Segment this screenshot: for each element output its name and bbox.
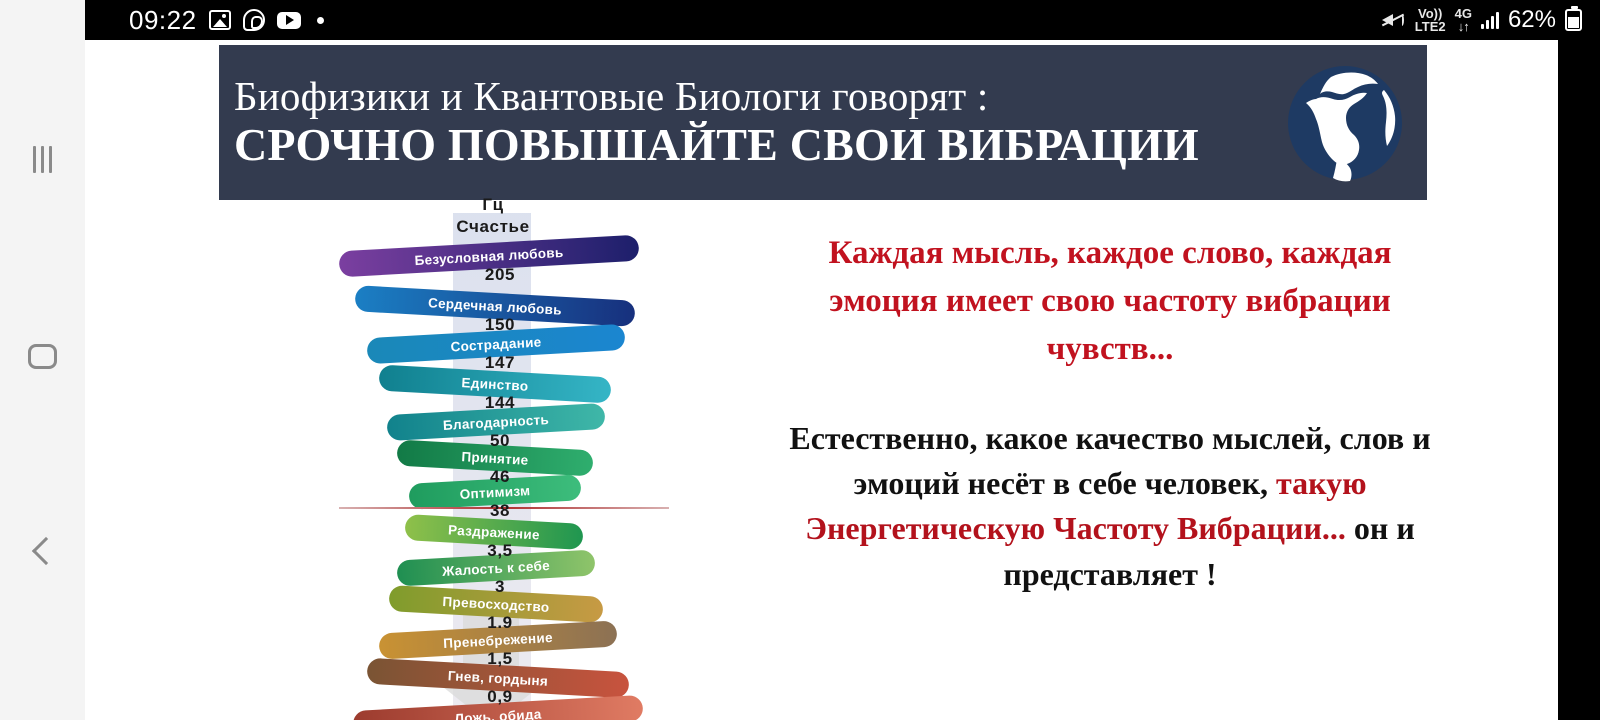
image-viewer-content[interactable]: Биофизики и Квантовые Биологи говорят : … — [85, 40, 1558, 720]
recents-button[interactable] — [0, 133, 85, 185]
data-arrows-icon: ↓↑ — [1458, 20, 1469, 33]
network-label: 4G — [1455, 7, 1472, 20]
header-line-2: СРОЧНО ПОВЫШАЙТЕ СВОИ ВИБРАЦИИ — [234, 120, 1199, 171]
screen: 09:22 Vo)) LTE2 4G ↓↑ 62% — [0, 0, 1600, 720]
status-bar-right: Vo)) LTE2 4G ↓↑ 62% — [1382, 6, 1582, 34]
mute-icon — [1382, 10, 1406, 30]
volte-bottom-label: LTE2 — [1415, 20, 1446, 33]
chart-band-value: 38 — [395, 501, 605, 521]
chart-band-value: 144 — [395, 393, 605, 413]
status-bar: 09:22 Vo)) LTE2 4G ↓↑ 62% — [85, 0, 1600, 40]
chart-band-value: 1,5 — [395, 649, 605, 669]
viber-icon — [243, 9, 265, 31]
signal-bars-icon — [1481, 12, 1499, 29]
chart-band-value: 50 — [395, 431, 605, 451]
chart-band-value: 1.9 — [395, 613, 605, 633]
chart-band-value: 150 — [395, 315, 605, 335]
chart-band-value: 3 — [395, 577, 605, 597]
battery-icon — [1565, 9, 1582, 31]
gallery-icon — [209, 10, 231, 30]
volte-top-label: Vo)) — [1418, 7, 1442, 20]
vibration-scale-chart: Гц Счастье Смерть Безусловная любовь205С… — [335, 195, 675, 720]
android-navigation-bar — [0, 0, 85, 720]
chart-band-value: 3,5 — [395, 541, 605, 561]
back-button[interactable] — [0, 525, 85, 577]
back-icon — [31, 537, 59, 565]
home-button[interactable] — [0, 330, 85, 382]
network-type-icon: 4G ↓↑ — [1455, 7, 1472, 33]
poster-header: Биофизики и Квантовые Биологи говорят : … — [219, 45, 1427, 200]
header-text-block: Биофизики и Квантовые Биологи говорят : … — [234, 74, 1199, 171]
status-bar-left: 09:22 — [129, 5, 324, 36]
paragraph-2: Естественно, какое качество мыслей, слов… — [785, 416, 1435, 598]
home-icon — [28, 344, 57, 369]
chart-band-value: 46 — [395, 467, 605, 487]
chart-band-value: 147 — [395, 353, 605, 373]
chart-band-value: 205 — [395, 265, 605, 285]
status-clock: 09:22 — [129, 5, 197, 36]
youtube-icon — [277, 12, 301, 29]
volte-icon: Vo)) LTE2 — [1415, 7, 1446, 34]
chart-unit-label: Гц — [453, 195, 533, 215]
right-black-margin — [1558, 40, 1600, 720]
header-line-1: Биофизики и Квантовые Биологи говорят : — [234, 74, 1199, 120]
battery-percent-label: 62% — [1508, 6, 1556, 34]
recents-icon — [33, 146, 52, 173]
poster-text-column: Каждая мысль, каждое слово, каждая эмоци… — [785, 230, 1435, 597]
paragraph-1: Каждая мысль, каждое слово, каждая эмоци… — [785, 230, 1435, 374]
chart-top-label: Счастье — [423, 217, 563, 237]
globe-icon — [1285, 63, 1405, 183]
chart-band-value: 0,9 — [395, 687, 605, 707]
dot-icon — [317, 17, 324, 24]
